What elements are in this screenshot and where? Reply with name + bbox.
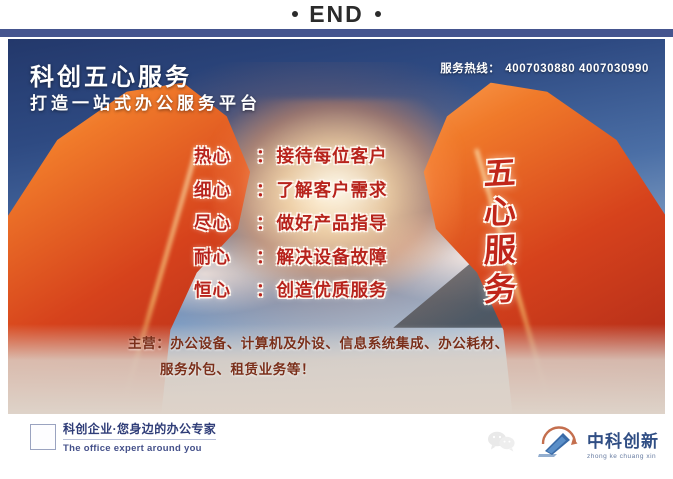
service-value: 了解客户需求 <box>277 177 443 202</box>
slogan-box-icon <box>30 424 56 450</box>
hotline-label: 服务热线： <box>440 63 500 75</box>
service-colon: ： <box>256 244 275 269</box>
service-line: 耐心 ： 解决设备故障 <box>194 244 442 269</box>
brand-subtitle: 打造一站式办公服务平台 <box>30 89 261 114</box>
business-scope-line-1: 主营：办公设备、计算机及外设、信息系统集成、办公耗材、 <box>128 331 598 357</box>
service-key: 耐心 <box>194 244 256 269</box>
hotline-numbers: 4007030880 4007030990 <box>505 63 649 75</box>
vertical-slogan-char: 五 <box>483 156 516 190</box>
service-colon: ： <box>256 210 275 235</box>
service-key: 尽心 <box>194 210 256 235</box>
brand-title: 科创五心服务 <box>30 57 192 92</box>
end-dot-right <box>375 11 381 17</box>
service-colon: ： <box>256 277 275 302</box>
vertical-slogan-char: 心 <box>483 195 516 229</box>
hotline-block: 服务热线：4007030880 4007030990 <box>440 60 649 76</box>
service-key: 热心 <box>194 143 256 168</box>
vertical-slogan-char: 务 <box>483 272 516 306</box>
company-name-cn: 中科创新 <box>587 427 659 452</box>
business-scope-line-2: 服务外包、租赁业务等！ <box>128 357 598 383</box>
vertical-slogan: 五 心 服 务 <box>474 157 526 312</box>
slogan-chinese: 科创企业·您身边的办公专家 <box>63 420 216 440</box>
footer-slogan: 科创企业·您身边的办公专家 The office expert around y… <box>30 420 216 454</box>
service-line: 热心 ： 接待每位客户 <box>194 143 442 168</box>
page-root: END 科创五心服务 打造一站式办公服务平台 服务热线：4007030880 4… <box>0 0 673 479</box>
business-scope-label: 主营： <box>128 336 170 351</box>
slogan-english: The office expert around you <box>63 443 216 454</box>
service-line: 尽心 ： 做好产品指导 <box>194 210 442 235</box>
service-value: 做好产品指导 <box>277 210 443 235</box>
company-logo-words: 中科创新 zhong ke chuang xin <box>587 427 659 460</box>
promo-banner: 科创五心服务 打造一站式办公服务平台 服务热线：4007030880 40070… <box>8 39 665 414</box>
company-name-pinyin: zhong ke chuang xin <box>587 453 659 460</box>
footer-logo: 中科创新 zhong ke chuang xin <box>487 424 659 463</box>
service-colon: ： <box>256 143 275 168</box>
service-value: 接待每位客户 <box>277 143 443 168</box>
service-key: 恒心 <box>194 277 256 302</box>
slogan-texts: 科创企业·您身边的办公专家 The office expert around y… <box>63 420 216 454</box>
service-colon: ： <box>256 177 275 202</box>
company-logo-mark <box>537 424 581 463</box>
header-divider <box>0 29 673 37</box>
end-dot-left <box>292 11 298 17</box>
service-key: 细心 <box>194 177 256 202</box>
wechat-icon <box>487 430 517 457</box>
business-scope-text-1: 办公设备、计算机及外设、信息系统集成、办公耗材、 <box>170 336 508 351</box>
vertical-slogan-char: 服 <box>483 233 516 267</box>
service-line: 恒心 ： 创造优质服务 <box>194 277 442 302</box>
end-label: END <box>309 3 364 26</box>
service-line: 细心 ： 了解客户需求 <box>194 177 442 202</box>
service-value: 解决设备故障 <box>277 244 443 269</box>
footer: 科创企业·您身边的办公专家 The office expert around y… <box>0 414 673 479</box>
service-list: 热心 ： 接待每位客户 细心 ： 了解客户需求 尽心 ： 做好产品指导 耐心 ：… <box>194 143 442 311</box>
business-scope: 主营：办公设备、计算机及外设、信息系统集成、办公耗材、 服务外包、租赁业务等！ <box>128 331 598 383</box>
end-header: END <box>0 0 673 28</box>
service-value: 创造优质服务 <box>277 277 443 302</box>
